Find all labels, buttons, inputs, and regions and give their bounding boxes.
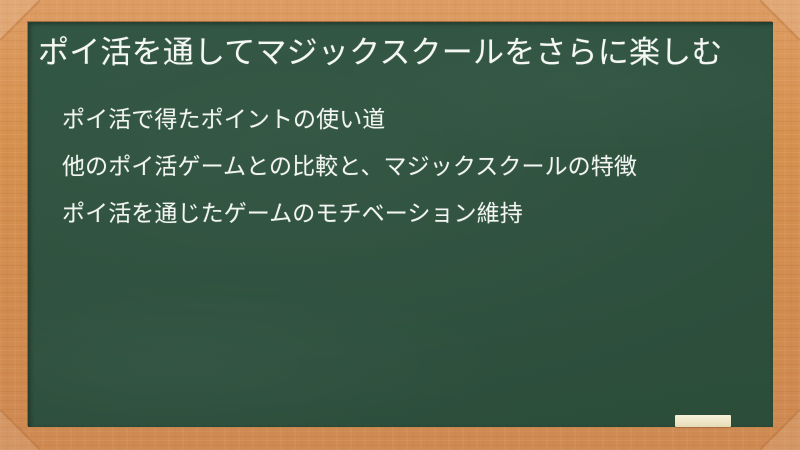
- list-item: ポイ活で得たポイントの使い道: [62, 102, 755, 136]
- chalkboard-surface: ポイ活を通してマジックスクールをさらに楽しむ ポイ活で得たポイントの使い道 他の…: [28, 22, 773, 427]
- topic-list: ポイ活で得たポイントの使い道 他のポイ活ゲームとの比較と、マジックスクールの特徴…: [36, 102, 755, 230]
- chalk-stick-icon: [675, 415, 731, 427]
- list-item: 他のポイ活ゲームとの比較と、マジックスクールの特徴: [62, 149, 755, 183]
- list-item: ポイ活を通じたゲームのモチベーション維持: [62, 196, 755, 230]
- page-title: ポイ活を通してマジックスクールをさらに楽しむ: [36, 30, 755, 76]
- blackboard-frame: ポイ活を通してマジックスクールをさらに楽しむ ポイ活で得たポイントの使い道 他の…: [0, 0, 800, 450]
- slide-content: ポイ活を通してマジックスクールをさらに楽しむ ポイ活で得たポイントの使い道 他の…: [28, 22, 773, 230]
